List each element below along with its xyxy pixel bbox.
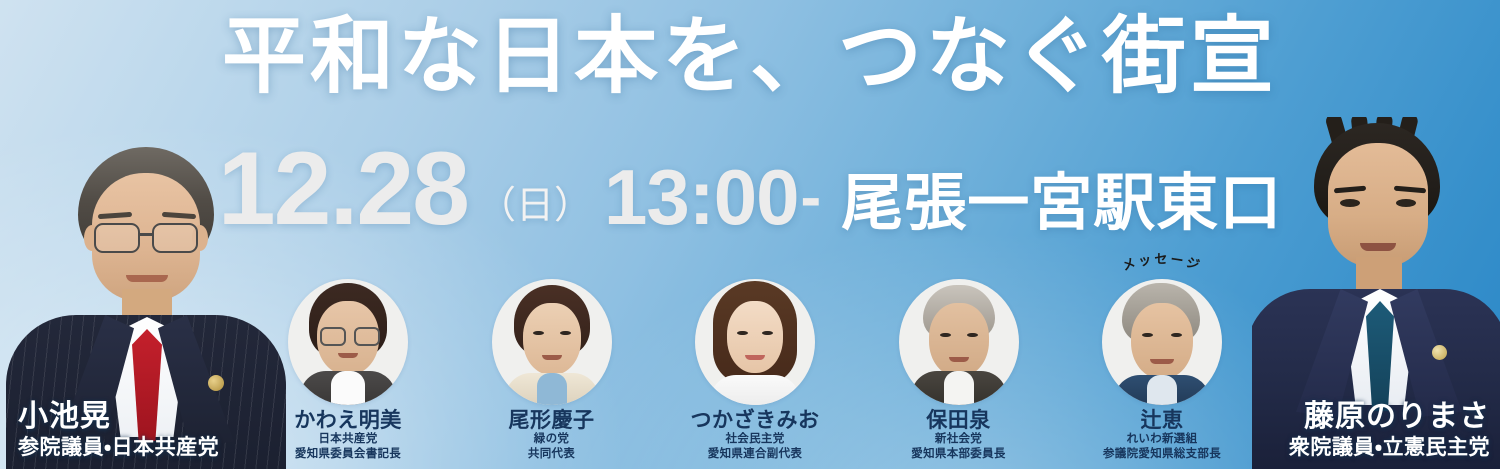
mouth <box>1150 359 1174 364</box>
mouth <box>542 355 562 360</box>
collar <box>537 373 567 405</box>
featured-person-left: 小池晃 参院議員・日本共産党 <box>0 139 292 469</box>
speaker-portrait <box>695 279 815 405</box>
speaker-title: 愛知県委員会書記長 <box>295 447 401 463</box>
speaker-name: かわえ明美 <box>294 409 402 432</box>
event-day-of-week: （日） <box>478 174 592 229</box>
lens-left <box>320 327 346 346</box>
face <box>1131 303 1193 379</box>
speaker-party: れいわ新選組 <box>1127 432 1198 448</box>
person-illustration-fujiwara <box>1252 117 1500 469</box>
mouth <box>949 357 969 362</box>
speaker-portrait <box>899 279 1019 405</box>
mouth <box>1360 243 1396 251</box>
speaker-name: 辻恵 <box>1141 409 1184 432</box>
lapel-badge <box>208 375 224 391</box>
speaker-party: 日本共産党 <box>319 432 378 448</box>
eye-right <box>1396 199 1416 207</box>
clothing <box>710 375 800 405</box>
speaker-list: かわえ明美 日本共産党 愛知県委員会書記長 尾形慶子 緑の党 共同代表 <box>268 273 1242 463</box>
speaker-title: 参議院愛知県総支部長 <box>1103 447 1221 463</box>
speaker-title: 共同代表 <box>528 447 575 463</box>
portrait-illustration <box>899 279 1019 405</box>
lens-right <box>152 223 198 253</box>
mouth <box>126 275 168 282</box>
collar <box>331 371 365 405</box>
bridge <box>138 233 154 236</box>
speaker-portrait <box>288 279 408 405</box>
mouth <box>745 355 765 360</box>
speaker-title: 愛知県本部委員長 <box>911 447 1005 463</box>
person-illustration-koike <box>0 139 292 469</box>
eye-left <box>1340 199 1360 207</box>
banner-title: 平和な日本を、つなぐ街宣 <box>0 14 1500 98</box>
event-time: 13:00 <box>604 158 799 236</box>
speaker-name: つかざきみお <box>691 409 820 432</box>
portrait-illustration <box>695 279 815 405</box>
speaker-item[interactable]: メッセージ 辻恵 れいわ新選組 参議院愛知県総支部長 <box>1082 279 1242 463</box>
portrait-illustration <box>1102 279 1222 405</box>
speaker-item[interactable]: 保田泉 新社会党 愛知県本部委員長 <box>879 279 1039 463</box>
message-label-text: メッセージ <box>1120 253 1203 273</box>
speaker-name: 保田泉 <box>926 409 991 432</box>
event-location: 尾張一宮駅東口 <box>841 152 1282 242</box>
face <box>523 303 581 375</box>
speaker-item[interactable]: つかざきみお 社会民主党 愛知県連合副代表 <box>675 279 835 463</box>
glasses-icon <box>92 223 200 249</box>
portrait-illustration <box>288 279 408 405</box>
mouth <box>338 353 358 358</box>
speaker-title: 愛知県連合副代表 <box>708 447 802 463</box>
event-time-dash: - <box>801 162 822 233</box>
speaker-name: 尾形慶子 <box>509 409 595 432</box>
featured-person-right: 藤原のりまさ 衆院議員・立憲民主党 <box>1252 117 1500 469</box>
lens-left <box>94 223 140 253</box>
speaker-item[interactable]: かわえ明美 日本共産党 愛知県委員会書記長 <box>268 279 428 463</box>
event-banner: 平和な日本を、つなぐ街宣 12.28 （日） 13:00 - 尾張一宮駅東口 <box>0 0 1500 469</box>
portrait-illustration <box>492 279 612 405</box>
lapel-badge <box>1432 345 1447 360</box>
speaker-party: 緑の党 <box>534 432 569 448</box>
speaker-portrait <box>1102 279 1222 405</box>
speaker-portrait <box>492 279 612 405</box>
face <box>929 303 989 377</box>
speaker-item[interactable]: 尾形慶子 緑の党 共同代表 <box>472 279 632 463</box>
face <box>727 301 783 373</box>
collar <box>1147 375 1177 405</box>
collar <box>944 371 974 405</box>
speaker-party: 新社会党 <box>935 432 982 448</box>
speaker-party: 社会民主党 <box>726 432 785 448</box>
lens-right <box>354 327 380 346</box>
